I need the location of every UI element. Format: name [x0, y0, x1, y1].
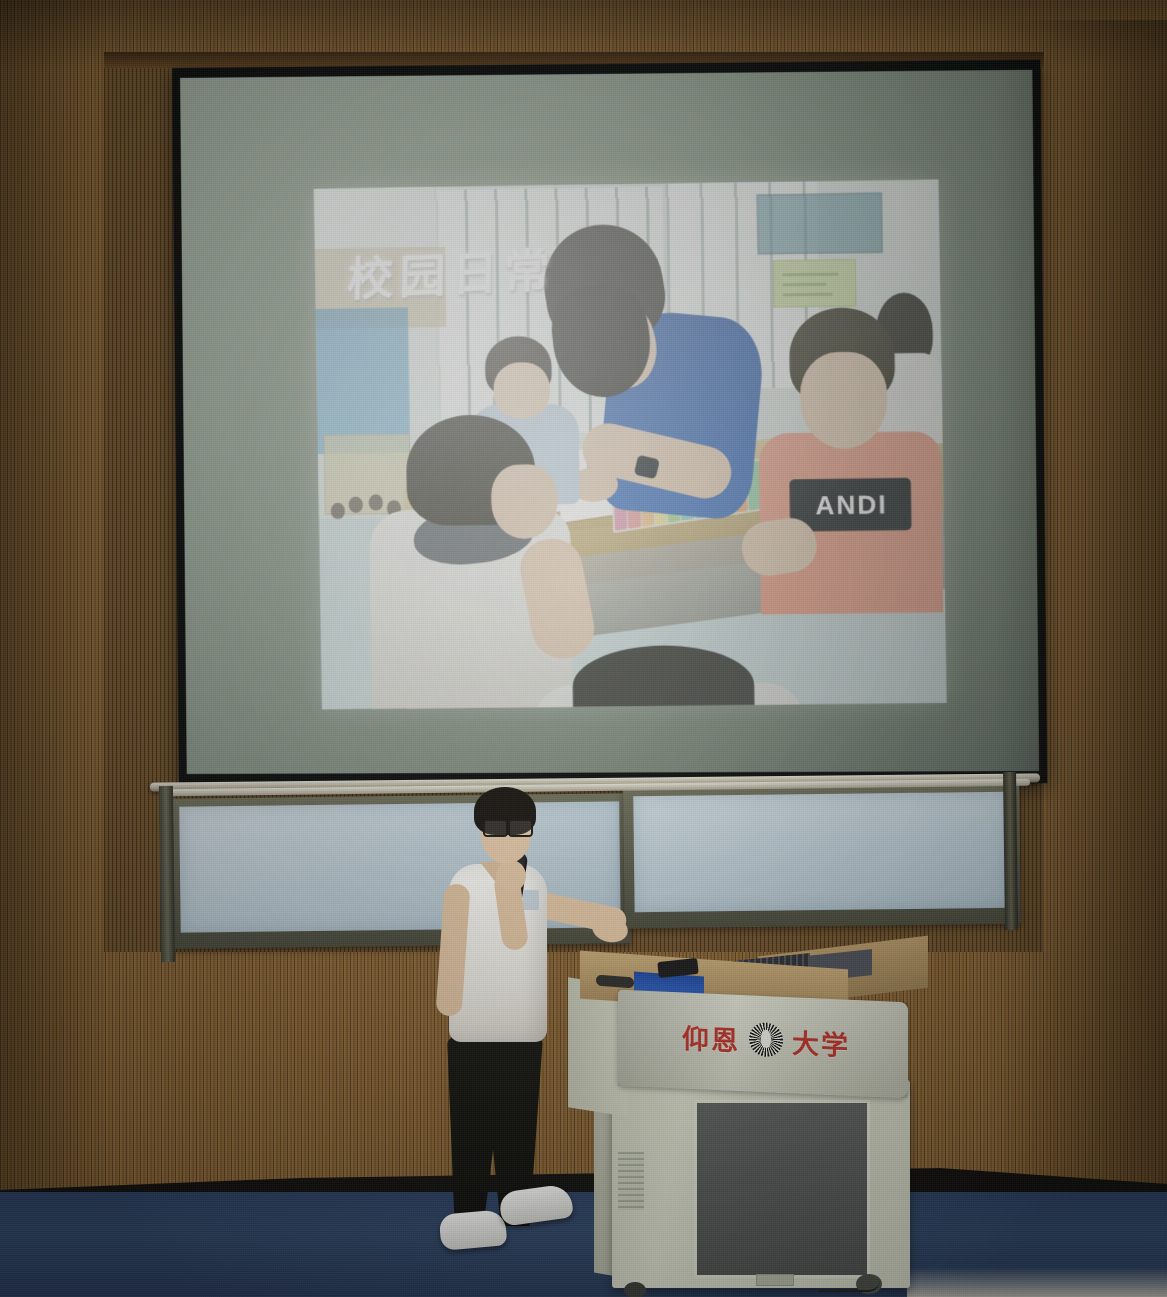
lectern-podium[interactable]: 仰恩 大学 [566, 952, 918, 1297]
photo-wall-poster [773, 259, 857, 307]
whiteboard-track-left [159, 786, 175, 962]
projected-slide-photo: ANDI 校园日常 [314, 180, 947, 710]
photo-shirt-print-text: ANDI [791, 482, 911, 528]
eyeglasses-lens-right [508, 819, 533, 837]
podium-foot-plate [756, 1274, 794, 1286]
photo-green-chalkboard [757, 192, 883, 254]
whiteboard-right-surface[interactable] [633, 792, 1010, 913]
photo-blue-wall-panel [316, 308, 411, 454]
whiteboard-left[interactable] [169, 793, 631, 949]
slide-title-calligraphy: 校园日常 [347, 234, 557, 310]
presenter-hand-on-mic [496, 860, 526, 892]
whiteboard-right[interactable] [623, 784, 1021, 929]
projection-screen[interactable]: ANDI 校园日常 [172, 60, 1047, 786]
presenter-shoe-left [439, 1209, 508, 1251]
university-name-left: 仰恩 [682, 1016, 740, 1058]
podium-vents [618, 1152, 644, 1210]
podium-equipment-door[interactable] [694, 1100, 870, 1278]
screen-surface: ANDI 校园日常 [180, 70, 1039, 774]
university-name-right: 大学 [792, 1021, 850, 1063]
presenter-shirt-pocket [523, 890, 539, 910]
photo-child-center-face [493, 362, 550, 419]
sunburst-logo [749, 1022, 783, 1057]
eyeglasses-lens-left [483, 819, 508, 837]
podium-cable [818, 1280, 880, 1292]
podium-caster-left [624, 1282, 646, 1297]
floor-light-edge [907, 1267, 1167, 1297]
lecture-hall-photo: ANDI 校园日常 [0, 0, 1167, 1297]
photo-bottom-student-head [572, 645, 755, 710]
whiteboard-track-right [1003, 772, 1018, 930]
